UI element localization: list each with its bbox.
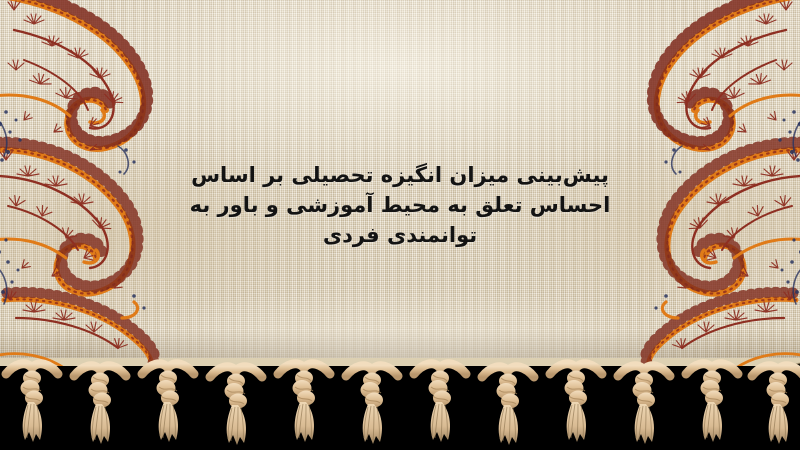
slide-title: پیش‌بینی میزان انگیزه تحصیلی بر اساس احس…	[0, 160, 800, 250]
title-line-3: توانمندی فردی	[0, 220, 800, 250]
title-line-1: پیش‌بینی میزان انگیزه تحصیلی بر اساس	[0, 160, 800, 190]
slide-canvas: پیش‌بینی میزان انگیزه تحصیلی بر اساس احس…	[0, 0, 800, 450]
knotted-tassel-fringe	[0, 352, 800, 450]
title-line-2: احساس تعلق به محیط آموزشی و باور به	[0, 190, 800, 220]
